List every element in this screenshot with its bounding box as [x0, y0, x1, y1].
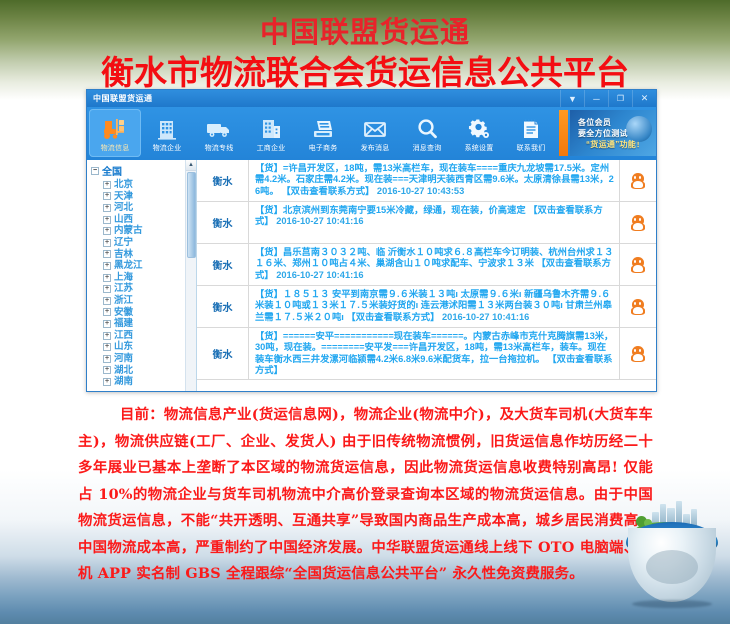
- tree-toggle-icon[interactable]: +: [103, 332, 111, 340]
- minimize-button[interactable]: ─: [584, 90, 608, 107]
- toolbar-item-logistics-company[interactable]: 物流企业: [141, 107, 193, 160]
- freight-message-table: 衡水 【货】=许昌开发区，18吨，需13米高栏车，现在装车====重庆九龙坡需1…: [197, 160, 656, 392]
- tree-toggle-icon[interactable]: +: [103, 204, 111, 212]
- row-city: 衡水: [197, 286, 249, 327]
- tree-item-tianjin[interactable]: +天津: [89, 191, 196, 203]
- tree-item-label: 内蒙古: [114, 225, 143, 237]
- window-controls: ▼ ─ ❐ ✕: [560, 90, 656, 107]
- toolbar-label: 物流信息: [101, 143, 130, 153]
- toolbar-label: 消息查询: [413, 143, 442, 153]
- message-text: 【货】======安平===========现在装车======。内蒙古赤峰市克…: [255, 331, 613, 375]
- building-icon: [155, 116, 179, 142]
- tree-toggle-icon[interactable]: +: [103, 274, 111, 282]
- tree-item-label: 上海: [114, 272, 133, 284]
- tree-root-nationwide[interactable]: − 全国: [89, 162, 196, 179]
- tree-item-label: 湖北: [114, 365, 133, 377]
- row-contact[interactable]: [620, 202, 656, 243]
- row-contact[interactable]: [620, 160, 656, 201]
- table-row[interactable]: 衡水 【货】=许昌开发区，18吨，需13米高栏车，现在装车====重庆九龙坡需1…: [197, 160, 656, 202]
- ecommerce-icon: [310, 116, 336, 142]
- tree-item-jiangxi[interactable]: +江西: [89, 330, 196, 342]
- tree-toggle-icon[interactable]: +: [103, 250, 111, 258]
- tree-toggle-icon[interactable]: +: [103, 366, 111, 374]
- region-tree-sidebar: − 全国 +北京 +天津 +河北 +山西 +内蒙古 +辽宁 +吉林 +黑龙江 +…: [87, 160, 197, 392]
- main-toolbar: 物流信息 物流企业: [87, 107, 656, 160]
- gear-icon: [467, 116, 491, 142]
- window-title: 中国联盟货运通: [87, 93, 153, 104]
- tree-toggle-icon[interactable]: +: [103, 320, 111, 328]
- row-contact[interactable]: [620, 328, 656, 379]
- tree-item-label: 福建: [114, 318, 133, 330]
- truck-icon: [205, 116, 233, 142]
- tree-item-hubei[interactable]: +湖北: [89, 365, 196, 377]
- tree-item-shanxi[interactable]: +山西: [89, 214, 196, 226]
- toolbar-label: 联系我们: [517, 143, 546, 153]
- toolbar-label: 发布消息: [361, 143, 390, 153]
- sidebar-scrollbar[interactable]: ▲: [185, 160, 196, 392]
- tree-item-zhejiang[interactable]: +浙江: [89, 295, 196, 307]
- toolbar-label: 系统设置: [465, 143, 494, 153]
- row-message[interactable]: 【货】北京滨州到东莞南宁要15米冷藏，绿通，现在装，价高速定 【双击查看联系方式…: [249, 202, 620, 243]
- tree-item-label: 河南: [114, 353, 133, 365]
- tree-item-label: 黑龙江: [114, 260, 143, 272]
- tree-item-shandong[interactable]: +山东: [89, 341, 196, 353]
- banner-title-line1: 中国联盟货运通: [0, 14, 730, 50]
- toolbar-item-business-company[interactable]: 工商企业: [245, 107, 297, 160]
- window-body: − 全国 +北京 +天津 +河北 +山西 +内蒙古 +辽宁 +吉林 +黑龙江 +…: [87, 160, 656, 392]
- tree-toggle-icon[interactable]: +: [103, 343, 111, 351]
- window-titlebar[interactable]: 中国联盟货运通 ▼ ─ ❐ ✕: [87, 90, 656, 107]
- row-contact[interactable]: [620, 286, 656, 327]
- tree-item-shanghai[interactable]: +上海: [89, 272, 196, 284]
- earth-city-illustration: [622, 500, 722, 606]
- message-text: 【货】１８５１３ 安平到南京需９.６米装１３吨ı 太原需９.６米ı 新疆乌鲁木齐…: [255, 289, 612, 322]
- toolbar-item-message-query[interactable]: 消息查询: [401, 107, 453, 160]
- tree-item-hebei[interactable]: +河北: [89, 202, 196, 214]
- tree-toggle-icon[interactable]: +: [103, 239, 111, 247]
- toolbar-label: 物流专线: [205, 143, 234, 153]
- qq-icon[interactable]: [631, 299, 645, 315]
- paragraph-text: 目前：物流信息产业(货运信息网)，物流企业(物流中介)，及大货车司机(大货车车主…: [78, 406, 653, 582]
- tree-item-label: 吉林: [114, 249, 133, 261]
- tree-item-label: 安徽: [114, 307, 133, 319]
- row-contact[interactable]: [620, 244, 656, 285]
- toolbar-label: 物流企业: [153, 143, 182, 153]
- qq-icon[interactable]: [631, 257, 645, 273]
- tree-item-label: 山东: [114, 341, 133, 353]
- envelope-icon: [362, 116, 388, 142]
- tree-toggle-icon[interactable]: +: [103, 192, 111, 200]
- row-city: 衡水: [197, 202, 249, 243]
- tree-toggle-icon[interactable]: +: [103, 378, 111, 386]
- row-city: 衡水: [197, 328, 249, 379]
- table-row[interactable]: 衡水 【货】======安平===========现在装车======。内蒙古赤…: [197, 328, 656, 380]
- table-row[interactable]: 衡水 【货】昌乐莒南３０３２吨、临 沂衡水１０吨求６.８高栏车今订明装、杭州台州…: [197, 244, 656, 286]
- tree-item-label: 北京: [114, 179, 133, 191]
- qq-icon[interactable]: [631, 215, 645, 231]
- globe-sphere: [628, 528, 716, 602]
- application-window: 中国联盟货运通 ▼ ─ ❐ ✕ 物流信息: [86, 89, 657, 392]
- promo-banner[interactable]: 各位会员 要全方位测试 “货运通”功能！: [570, 110, 656, 156]
- tree-item-liaoning[interactable]: +辽宁: [89, 237, 196, 249]
- dropdown-icon[interactable]: ▼: [560, 90, 584, 107]
- tree-item-henan[interactable]: +河南: [89, 353, 196, 365]
- tree-item-heilongjiang[interactable]: +黑龙江: [89, 260, 196, 272]
- banner-title-line2: 衡水市物流联合会货运信息公共平台: [0, 52, 730, 94]
- toolbar-label: 电子商务: [309, 143, 338, 153]
- tree-toggle-icon[interactable]: +: [103, 297, 111, 305]
- tree-item-label: 山西: [114, 214, 133, 226]
- tree-item-label: 江西: [114, 330, 133, 342]
- toolbar-item-ecommerce[interactable]: 电子商务: [297, 107, 349, 160]
- tree-item-beijing[interactable]: +北京: [89, 179, 196, 191]
- tree-toggle-icon[interactable]: +: [103, 355, 111, 363]
- row-city: 衡水: [197, 244, 249, 285]
- maximize-button[interactable]: ❐: [608, 90, 632, 107]
- row-message[interactable]: 【货】======安平===========现在装车======。内蒙古赤峰市克…: [249, 328, 620, 379]
- tree-item-jilin[interactable]: +吉林: [89, 249, 196, 261]
- row-message[interactable]: 【货】昌乐莒南３０３２吨、临 沂衡水１０吨求６.８高栏车今订明装、杭州台州求１３…: [249, 244, 620, 285]
- tree-item-anhui[interactable]: +安徽: [89, 307, 196, 319]
- tree-toggle-icon[interactable]: +: [103, 216, 111, 224]
- tree-item-label: 江苏: [114, 283, 133, 295]
- tree-toggle-icon[interactable]: +: [103, 181, 111, 189]
- document-icon: [519, 116, 543, 142]
- office-icon: [259, 116, 283, 142]
- row-message[interactable]: 【货】１８５１３ 安平到南京需９.６米装１３吨ı 太原需９.６米ı 新疆乌鲁木齐…: [249, 286, 620, 327]
- close-button[interactable]: ✕: [632, 90, 656, 107]
- qq-icon[interactable]: [631, 346, 645, 362]
- tree-item-inner-mongolia[interactable]: +内蒙古: [89, 225, 196, 237]
- tree-root-label: 全国: [102, 163, 122, 178]
- toolbar-item-logistics-info[interactable]: 物流信息: [89, 109, 141, 157]
- table-row[interactable]: 衡水 【货】北京滨州到东莞南宁要15米冷藏，绿通，现在装，价高速定 【双击查看联…: [197, 202, 656, 244]
- row-message[interactable]: 【货】=许昌开发区，18吨，需13米高栏车，现在装车====重庆九龙坡需17.5…: [249, 160, 620, 201]
- tree-item-label: 浙江: [114, 295, 133, 307]
- message-timestamp: 2016-10-27 10:41:16: [276, 216, 363, 226]
- forklift-icon: [102, 116, 128, 142]
- orange-divider: [559, 110, 568, 156]
- description-paragraph: 目前：物流信息产业(货运信息网)，物流企业(物流中介)，及大货车司机(大货车车主…: [78, 402, 653, 588]
- scrollbar-thumb[interactable]: [187, 172, 196, 258]
- globe-shadow: [632, 600, 712, 608]
- tree-toggle-icon[interactable]: −: [91, 167, 99, 175]
- table-row[interactable]: 衡水 【货】１８５１３ 安平到南京需９.６米装１３吨ı 太原需９.６米ı 新疆乌…: [197, 286, 656, 328]
- row-city: 衡水: [197, 160, 249, 201]
- toolbar-item-publish-message[interactable]: 发布消息: [349, 107, 401, 160]
- tree-item-jiangsu[interactable]: +江苏: [89, 283, 196, 295]
- toolbar-item-system-settings[interactable]: 系统设置: [453, 107, 505, 160]
- tree-item-fujian[interactable]: +福建: [89, 318, 196, 330]
- tree-item-hunan[interactable]: +湖南: [89, 376, 196, 388]
- tree-toggle-icon[interactable]: +: [103, 227, 111, 235]
- tree-item-label: 天津: [114, 191, 133, 203]
- scroll-up-icon[interactable]: ▲: [186, 160, 196, 171]
- search-icon: [415, 116, 439, 142]
- message-timestamp: 2016-10-27 10:41:16: [276, 270, 363, 280]
- page-banner: 中国联盟货运通 衡水市物流联合会货运信息公共平台: [0, 0, 730, 94]
- tree-item-label: 河北: [114, 202, 133, 214]
- message-timestamp: 2016-10-27 10:41:16: [442, 312, 529, 322]
- toolbar-label: 工商企业: [257, 143, 286, 153]
- tree-toggle-icon[interactable]: +: [103, 285, 111, 293]
- tree-children: +北京 +天津 +河北 +山西 +内蒙古 +辽宁 +吉林 +黑龙江 +上海 +江…: [89, 179, 196, 388]
- message-timestamp: 2016-10-27 10:43:53: [377, 186, 464, 196]
- toolbar-item-logistics-line[interactable]: 物流专线: [193, 107, 245, 160]
- tree-toggle-icon[interactable]: +: [103, 262, 111, 270]
- tree-item-label: 辽宁: [114, 237, 133, 249]
- tree-item-label: 湖南: [114, 376, 133, 388]
- tree-toggle-icon[interactable]: +: [103, 308, 111, 316]
- qq-icon[interactable]: [631, 173, 645, 189]
- promo-globe-icon: [626, 116, 652, 142]
- toolbar-item-contact-us[interactable]: 联系我们: [505, 107, 557, 160]
